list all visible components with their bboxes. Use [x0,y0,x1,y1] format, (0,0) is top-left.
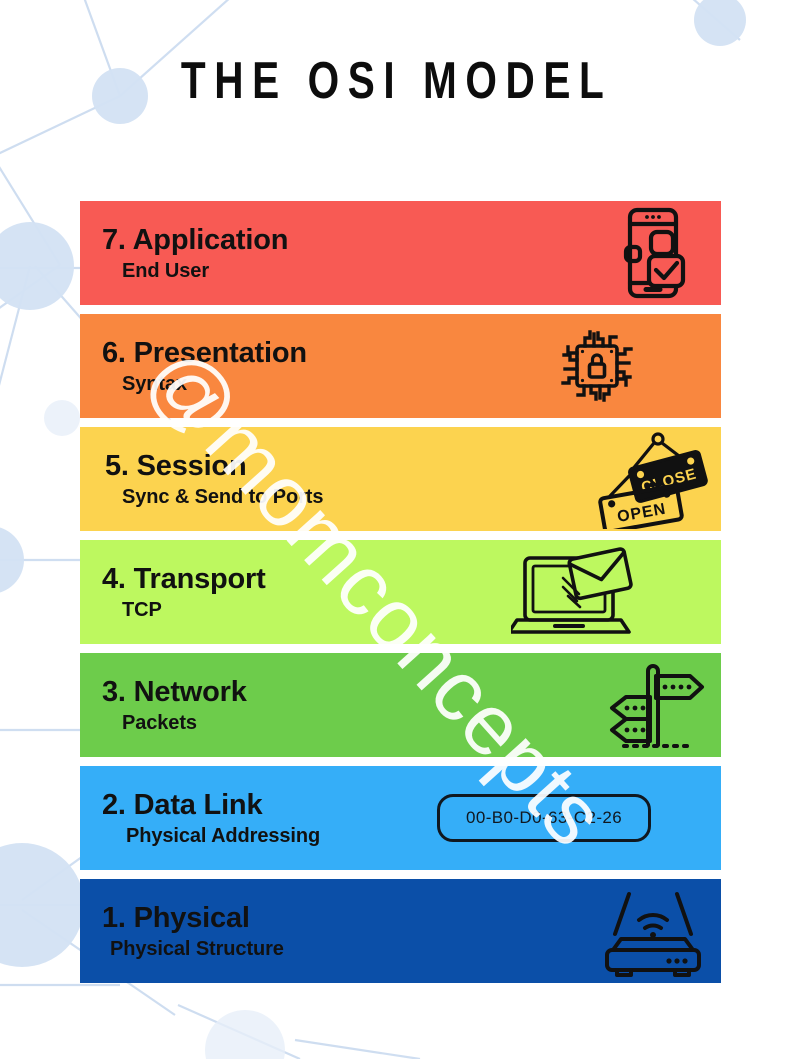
osi-layer-stack: 7. Application End User [80,201,721,983]
osi-layer-6-presentation[interactable]: 6. Presentation Syntax [80,314,721,418]
layer-6-name: 6. Presentation [102,336,307,370]
osi-layer-1-physical[interactable]: 1. Physical Physical Structure [80,879,721,983]
layer-4-name: 4. Transport [102,562,266,596]
laptop-envelope-icon [505,540,645,644]
layer-7-text-block: 7. Application End User [80,201,288,305]
encryption-chip-lock-icon [542,314,652,418]
layer-1-subtitle: Physical Structure [102,936,284,962]
osi-layer-4-transport[interactable]: 4. Transport TCP [80,540,721,644]
signpost-arrows-icon [595,653,721,757]
layer-3-text-block: 3. Network Packets [80,653,247,757]
layer-5-name: 5. Session [102,449,323,483]
open-close-signs-icon: CLOSE OPEN [580,427,720,531]
layer-3-name: 3. Network [102,675,247,709]
layer-5-text-block: 5. Session Sync & Send to Ports [80,427,323,531]
layer-2-name: 2. Data Link [102,788,320,822]
osi-model-poster: THE OSI MODEL 7. Application End User [0,0,794,1059]
osi-layer-2-data-link[interactable]: 2. Data Link Physical Addressing 00-B0-D… [80,766,721,870]
layer-4-text-block: 4. Transport TCP [80,540,266,644]
layer-5-subtitle: Sync & Send to Ports [102,484,323,510]
osi-layer-3-network[interactable]: 3. Network Packets [80,653,721,757]
layer-2-text-block: 2. Data Link Physical Addressing [80,766,320,870]
layer-6-text-block: 6. Presentation Syntax [80,314,307,418]
page-title-text: THE OSI MODEL [181,52,613,110]
mac-address-pill: 00-B0-D0-63-C2-26 [437,794,651,842]
osi-layer-5-session[interactable]: 5. Session Sync & Send to Ports CLOSE [80,427,721,531]
osi-layer-7-application[interactable]: 7. Application End User [80,201,721,305]
page-title: THE OSI MODEL [0,52,794,110]
layer-2-subtitle: Physical Addressing [102,823,320,849]
layer-3-subtitle: Packets [102,710,247,736]
wifi-router-icon [585,879,721,983]
layer-6-subtitle: Syntax [102,371,307,397]
layer-1-name: 1. Physical [102,901,284,935]
layer-7-subtitle: End User [102,258,288,284]
layer-1-text-block: 1. Physical Physical Structure [80,879,284,983]
smartphone-app-check-icon [598,201,708,305]
layer-7-name: 7. Application [102,223,288,257]
layer-4-subtitle: TCP [102,597,266,623]
